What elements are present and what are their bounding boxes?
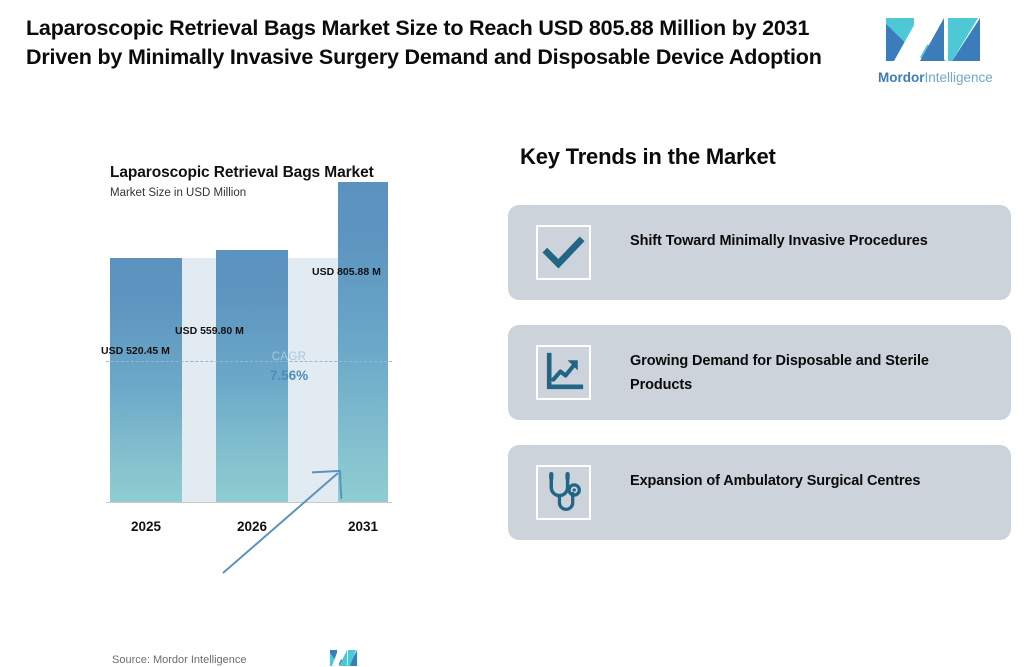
cagr-label: CAGR: [258, 351, 320, 363]
stethoscope-icon: [536, 465, 591, 520]
mordor-logo-mark: [884, 12, 984, 67]
bar-2031: [338, 182, 388, 502]
x-axis-label-2031: 2031: [330, 519, 396, 534]
trend-card-label: Shift Toward Minimally Invasive Procedur…: [630, 229, 990, 253]
bar-value-label-2026: USD 559.80 M: [175, 325, 244, 337]
logo-word-intelligence: Intelligence: [925, 70, 993, 85]
brand-logo: MordorIntelligence: [878, 12, 990, 90]
trend-card-disposable-products[interactable]: Growing Demand for Disposable and Steril…: [508, 325, 1011, 420]
x-axis-label-2026: 2026: [216, 519, 288, 534]
line-chart-up-icon: [536, 345, 591, 400]
checkmark-icon: [536, 225, 591, 280]
cagr-value: 7.56%: [258, 368, 320, 383]
trend-card-minimally-invasive[interactable]: Shift Toward Minimally Invasive Procedur…: [508, 205, 1011, 300]
page-header: Laparoscopic Retrieval Bags Market Size …: [0, 0, 1036, 118]
bar-2025: [110, 258, 182, 502]
key-trends-heading: Key Trends in the Market: [520, 144, 776, 170]
chart-subtitle: Market Size in USD Million: [110, 187, 246, 199]
chart-background-band: [182, 258, 216, 502]
bar-value-label-2031: USD 805.88 M: [312, 266, 381, 278]
x-axis-label-2025: 2025: [110, 519, 182, 534]
trend-card-label: Growing Demand for Disposable and Steril…: [630, 349, 990, 397]
chart-source: Source: Mordor Intelligence: [112, 654, 247, 666]
chart-baseline-dashed: [106, 361, 392, 362]
chart-title: Laparoscopic Retrieval Bags Market: [110, 164, 374, 182]
trend-card-label: Expansion of Ambulatory Surgical Centres: [630, 469, 990, 493]
bar-chart-plot: USD 520.45 M USD 559.80 M USD 805.88 M C…: [110, 218, 388, 606]
chart-panel: Laparoscopic Retrieval Bags Market Marke…: [0, 118, 500, 583]
bar-value-label-2025: USD 520.45 M: [101, 345, 170, 357]
page-title: Laparoscopic Retrieval Bags Market Size …: [26, 14, 866, 72]
trend-card-ambulatory-centres[interactable]: Expansion of Ambulatory Surgical Centres: [508, 445, 1011, 540]
logo-word-mordor: Mordor: [878, 70, 925, 85]
logo-wordmark: MordorIntelligence: [878, 70, 990, 85]
key-trends-panel: Key Trends in the Market Shift Toward Mi…: [500, 118, 1036, 583]
source-mordor-logo-icon: [330, 649, 358, 667]
